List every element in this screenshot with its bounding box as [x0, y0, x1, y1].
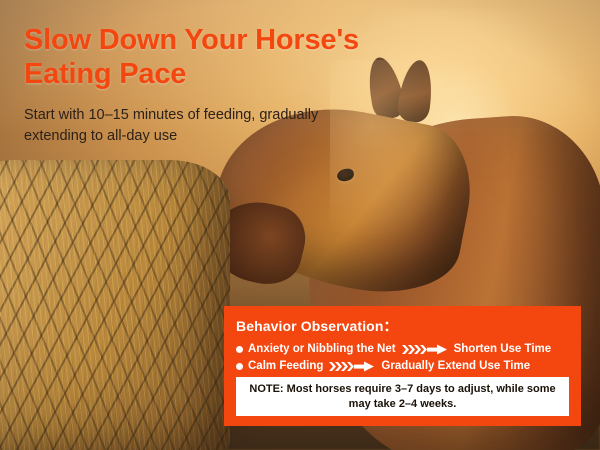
- poster-subhead: Start with 10–15 minutes of feeding, gra…: [24, 105, 324, 147]
- behavior-result: Shorten Use Time: [454, 343, 552, 355]
- poster-headline: Slow Down Your Horse's Eating Pace: [24, 24, 454, 92]
- behavior-label: Calm Feeding: [248, 360, 323, 372]
- behavior-label: Anxiety or Nibbling the Net: [248, 343, 396, 355]
- headline-block: Slow Down Your Horse's Eating Pace Start…: [24, 24, 454, 147]
- note-text: NOTE: Most horses require 3–7 days to ad…: [242, 382, 563, 411]
- hay-bale-in-net: [0, 160, 230, 450]
- behavior-result: Gradually Extend Use Time: [381, 360, 530, 372]
- bullet-dot-icon: [236, 363, 243, 370]
- chevron-arrow-icon: [329, 361, 375, 372]
- behavior-observation-callout: Behavior Observation： Anxiety or Nibblin…: [224, 306, 581, 426]
- behavior-row: Anxiety or Nibbling the Net Shorten Use …: [236, 343, 569, 355]
- callout-title: Behavior Observation：: [236, 316, 569, 336]
- chevron-arrow-icon: [402, 344, 448, 355]
- bullet-dot-icon: [236, 346, 243, 353]
- note-box: NOTE: Most horses require 3–7 days to ad…: [236, 377, 569, 416]
- hay-texture: [0, 160, 230, 450]
- poster-root: Slow Down Your Horse's Eating Pace Start…: [0, 0, 600, 450]
- behavior-row: Calm Feeding Gradually Extend Use Time: [236, 360, 569, 372]
